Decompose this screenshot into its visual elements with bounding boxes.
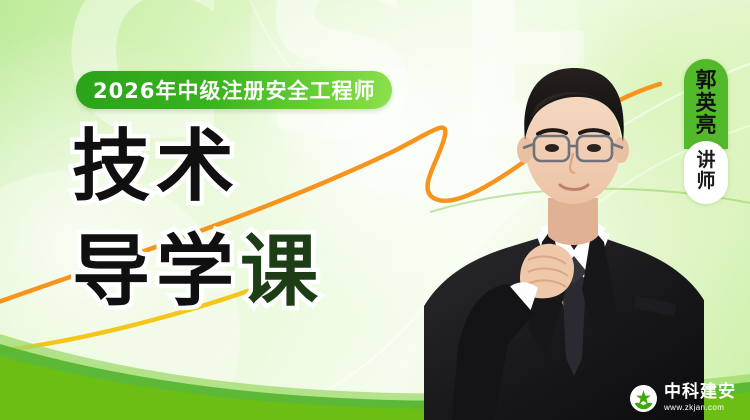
course-subtitle-banner: 2026年中级注册安全工程师 bbox=[76, 71, 392, 109]
instructor-badge: 郭 英 亮 讲 师 bbox=[684, 59, 728, 204]
brand-url: www.zkjan.com bbox=[664, 404, 736, 412]
instructor-name-char-3: 亮 bbox=[696, 114, 717, 137]
instructor-name-char-1: 郭 bbox=[696, 69, 717, 92]
instructor-role: 讲 师 bbox=[684, 141, 728, 204]
brand-name: 中科建安 bbox=[664, 384, 736, 401]
course-subtitle-text: 2026年中级注册安全工程师 bbox=[93, 75, 375, 105]
instructor-photo bbox=[424, 28, 704, 420]
headline-block: 技术 导学课 bbox=[72, 128, 324, 311]
instructor-role-char-1: 讲 bbox=[696, 150, 715, 171]
course-poster: CSE 技术 导学课 2026年中级注册安全工程师 bbox=[0, 0, 750, 420]
instructor-role-char-2: 师 bbox=[696, 171, 715, 192]
instructor-name: 郭 英 亮 bbox=[684, 59, 728, 149]
headline-line-1: 技术 bbox=[72, 128, 324, 206]
mountain-star-logo-icon bbox=[630, 385, 657, 412]
brand-wordmark: 中科建安 www.zkjan.com bbox=[664, 384, 736, 412]
brand-logo: 中科建安 www.zkjan.com bbox=[630, 384, 736, 412]
instructor-name-char-2: 英 bbox=[696, 92, 717, 115]
